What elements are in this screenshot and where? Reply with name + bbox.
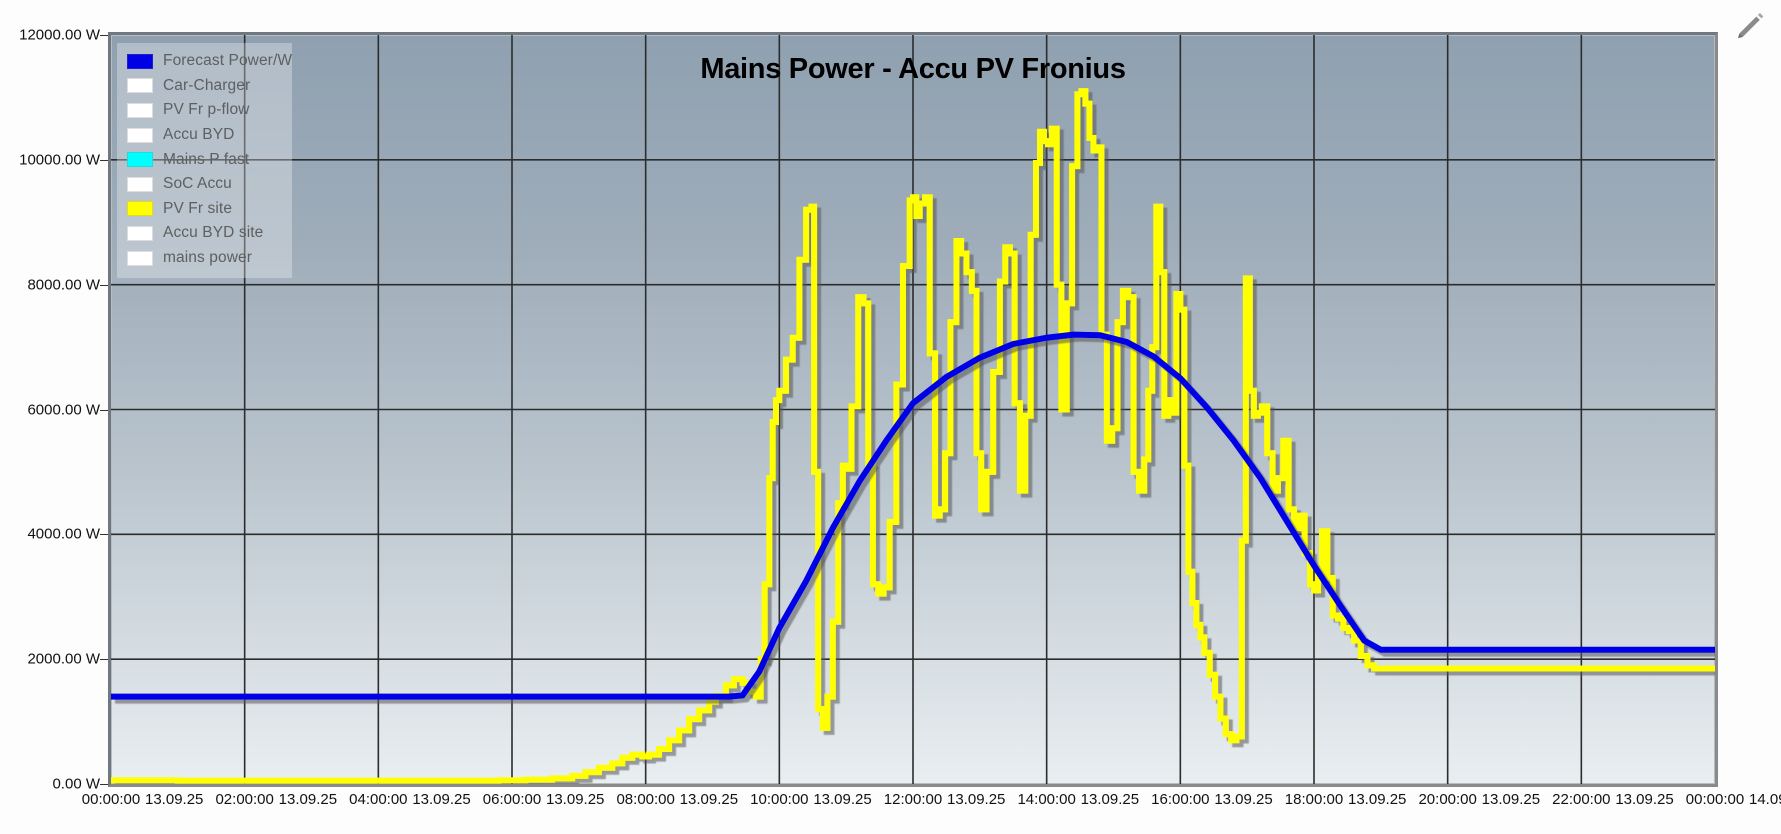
legend-color-swatch bbox=[127, 201, 153, 216]
y-axis-tick-mark bbox=[100, 35, 108, 36]
legend-item-label: Mains P fast bbox=[163, 151, 249, 169]
legend-item-label: mains power bbox=[163, 249, 252, 267]
y-axis-tick-label: 8000.00 W bbox=[0, 276, 100, 293]
x-axis-time-label: 00:00:00 bbox=[82, 790, 140, 809]
chart-gridlines bbox=[111, 35, 1715, 784]
x-axis-time-label: 04:00:00 bbox=[349, 790, 407, 809]
x-axis-time-label: 10:00:00 bbox=[750, 790, 808, 809]
y-axis-tick-label: 12000.00 W bbox=[0, 27, 100, 44]
x-axis-time-label: 08:00:00 bbox=[616, 790, 674, 809]
x-axis: 00:00:0013.09.2502:00:0013.09.2504:00:00… bbox=[0, 790, 1781, 834]
pencil-edit-icon[interactable] bbox=[1733, 8, 1767, 42]
chart-canvas bbox=[111, 35, 1715, 784]
x-axis-date-label: 13.09.25 bbox=[546, 790, 604, 809]
legend-color-swatch bbox=[127, 78, 153, 93]
x-axis-date-label: 13.09.25 bbox=[947, 790, 1005, 809]
chart-plot-area: Mains Power - Accu PV Fronius Forecast P… bbox=[108, 32, 1718, 787]
x-axis-time-label: 18:00:00 bbox=[1285, 790, 1343, 809]
x-axis-time-label: 06:00:00 bbox=[483, 790, 541, 809]
y-axis-tick-label: 0.00 W bbox=[0, 776, 100, 793]
x-axis-time-label: 20:00:00 bbox=[1418, 790, 1476, 809]
legend-item[interactable]: PV Fr site bbox=[127, 197, 284, 222]
legend-item[interactable]: Accu BYD bbox=[127, 123, 284, 148]
legend-item[interactable]: mains power bbox=[127, 246, 284, 271]
legend-item[interactable]: Car-Charger bbox=[127, 74, 284, 99]
y-axis-tick-label: 2000.00 W bbox=[0, 651, 100, 668]
legend-item-label: Accu BYD bbox=[163, 126, 234, 144]
legend-item-label: PV Fr p-flow bbox=[163, 101, 249, 119]
y-axis-tick-label: 10000.00 W bbox=[0, 151, 100, 168]
chart-legend[interactable]: Forecast Power/WCar-ChargerPV Fr p-flowA… bbox=[117, 43, 292, 278]
legend-color-swatch bbox=[127, 128, 153, 143]
x-axis-date-label: 14.09.25 bbox=[1749, 790, 1781, 809]
legend-item[interactable]: Forecast Power/W bbox=[127, 49, 284, 74]
chart-page: 0.00 W2000.00 W4000.00 W6000.00 W8000.00… bbox=[0, 0, 1781, 834]
legend-item[interactable]: SoC Accu bbox=[127, 172, 284, 197]
legend-color-swatch bbox=[127, 54, 153, 69]
y-axis-tick-mark bbox=[100, 285, 108, 286]
legend-item-label: Accu BYD site bbox=[163, 224, 263, 242]
legend-item-label: Car-Charger bbox=[163, 77, 250, 95]
legend-item-label: PV Fr site bbox=[163, 200, 232, 218]
x-axis-date-label: 13.09.25 bbox=[1081, 790, 1139, 809]
legend-color-swatch bbox=[127, 226, 153, 241]
x-axis-date-label: 13.09.25 bbox=[1615, 790, 1673, 809]
x-axis-date-label: 13.09.25 bbox=[813, 790, 871, 809]
legend-item[interactable]: Accu BYD site bbox=[127, 221, 284, 246]
legend-color-swatch bbox=[127, 103, 153, 118]
x-axis-date-label: 13.09.25 bbox=[279, 790, 337, 809]
x-axis-date-label: 13.09.25 bbox=[145, 790, 203, 809]
legend-color-swatch bbox=[127, 251, 153, 266]
x-axis-time-label: 02:00:00 bbox=[215, 790, 273, 809]
y-axis-tick-mark bbox=[100, 659, 108, 660]
x-axis-date-label: 13.09.25 bbox=[1482, 790, 1540, 809]
x-axis-date-label: 13.09.25 bbox=[680, 790, 738, 809]
y-axis-tick-mark bbox=[100, 534, 108, 535]
x-axis-time-label: 22:00:00 bbox=[1552, 790, 1610, 809]
x-axis-time-label: 16:00:00 bbox=[1151, 790, 1209, 809]
x-axis-time-label: 12:00:00 bbox=[884, 790, 942, 809]
x-axis-date-label: 13.09.25 bbox=[1348, 790, 1406, 809]
legend-item-label: SoC Accu bbox=[163, 175, 232, 193]
y-axis-tick-label: 4000.00 W bbox=[0, 526, 100, 543]
x-axis-time-label: 14:00:00 bbox=[1017, 790, 1075, 809]
y-axis-tick-mark bbox=[100, 410, 108, 411]
x-axis-time-label: 00:00:00 bbox=[1686, 790, 1744, 809]
legend-color-swatch bbox=[127, 152, 153, 167]
legend-color-swatch bbox=[127, 177, 153, 192]
legend-item[interactable]: PV Fr p-flow bbox=[127, 98, 284, 123]
y-axis-tick-label: 6000.00 W bbox=[0, 401, 100, 418]
legend-item[interactable]: Mains P fast bbox=[127, 147, 284, 172]
y-axis-tick-mark bbox=[100, 784, 108, 785]
x-axis-date-label: 13.09.25 bbox=[1214, 790, 1272, 809]
legend-item-label: Forecast Power/W bbox=[163, 52, 292, 70]
y-axis-tick-mark bbox=[100, 160, 108, 161]
x-axis-date-label: 13.09.25 bbox=[412, 790, 470, 809]
